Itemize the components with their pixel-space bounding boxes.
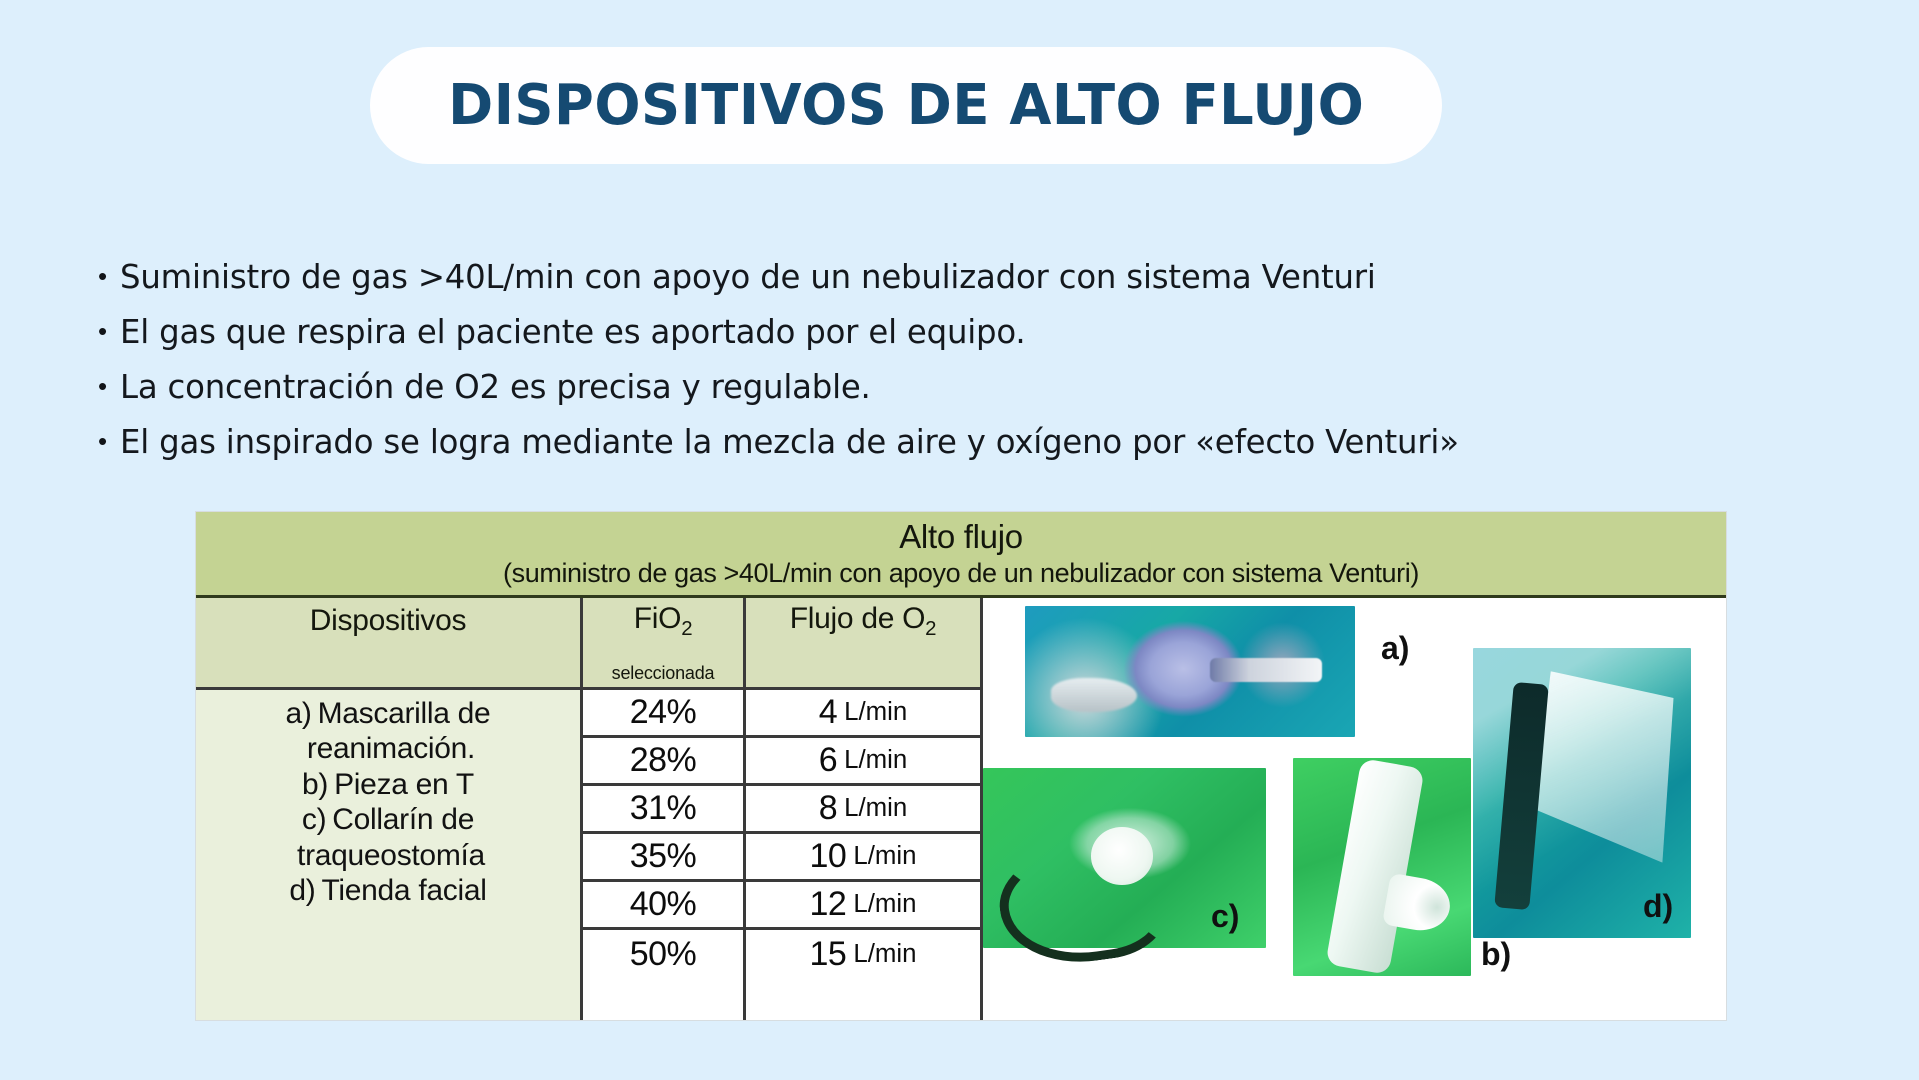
column-fio2: FiO2 seleccionada 24% 28% 31% 35% 40% 50… [583,598,746,1020]
column-header-fio2-sub: seleccionada [612,663,715,684]
flujo-unit: L/min [853,842,916,871]
photo-label-c: c) [1211,898,1239,935]
table-cell-fio2: 24% [583,690,743,738]
list-item: b)Pieza en T [196,767,580,802]
high-flow-devices-figure: Alto flujo (suministro de gas >40L/min c… [196,512,1726,1020]
device-marker: b) [302,768,328,801]
flujo-unit: L/min [853,890,916,919]
list-item: • Suministro de gas >40L/min con apoyo d… [98,258,1898,298]
table-cell-fio2: 50% [583,930,743,978]
list-item: • El gas inspirado se logra mediante la … [98,423,1898,463]
bag-valve-mask-photo [1025,606,1355,737]
device-marker: a) [286,697,312,730]
page-title: DISPOSITIVOS DE ALTO FLUJO [448,73,1364,138]
device-name: Mascarilla de [318,697,491,730]
column-dispositivos: Dispositivos a)Mascarilla de reanimación… [196,598,583,1020]
column-header-dispositivos: Dispositivos [196,598,580,690]
flujo-unit: L/min [844,698,907,727]
figure-header: Alto flujo (suministro de gas >40L/min c… [196,512,1726,598]
bullet-dot-icon: • [98,373,120,399]
column-flujo-de-o2: Flujo de O2 4L/min 6L/min 8L/min 10L/min… [746,598,980,1020]
photo-label-a: a) [1381,630,1409,667]
list-item: reanimación. [196,731,580,766]
flujo-value: 10 [810,837,847,876]
flujo-value: 15 [810,935,847,974]
bullet-text: El gas que respira el paciente es aporta… [120,313,1026,351]
list-item: • La concentración de O2 es precisa y re… [98,368,1898,408]
device-name: Collarín de [332,803,474,836]
flujo-unit: L/min [844,746,907,775]
figure-header-subtitle: (suministro de gas >40L/min con apoyo de… [196,558,1726,595]
table-cell-fio2: 40% [583,882,743,930]
table-cell-flujo: 6L/min [746,738,980,786]
photo-label-b: b) [1481,936,1511,973]
flujo-value: 4 [819,693,837,732]
figure-body: Dispositivos a)Mascarilla de reanimación… [196,598,1726,1020]
bullet-dot-icon: • [98,318,120,344]
flujo-unit: L/min [844,794,907,823]
table-cell-fio2: 31% [583,786,743,834]
list-item: • El gas que respira el paciente es apor… [98,313,1898,353]
device-name: Tienda facial [321,874,486,907]
table-cell-fio2: 28% [583,738,743,786]
bullet-text: La concentración de O2 es precisa y regu… [120,368,871,406]
device-name: Pieza en T [334,768,474,801]
bullet-dot-icon: • [98,428,120,454]
table-cell-flujo: 10L/min [746,834,980,882]
flujo-value: 12 [810,885,847,924]
device-name: traqueostomía [297,839,485,872]
bullet-text: El gas inspirado se logra mediante la me… [120,423,1459,461]
t-piece-photo [1293,758,1471,976]
devices-table: Dispositivos a)Mascarilla de reanimación… [196,598,983,1020]
flujo-unit: L/min [853,940,916,969]
list-item: c)Collarín de [196,802,580,837]
table-cell-flujo: 4L/min [746,690,980,738]
table-cell-flujo: 8L/min [746,786,980,834]
device-name-list: a)Mascarilla de reanimación. b)Pieza en … [196,690,580,908]
table-cell-flujo: 12L/min [746,882,980,930]
bullet-text: Suministro de gas >40L/min con apoyo de … [120,258,1376,296]
list-item: traqueostomía [196,838,580,873]
device-marker: d) [289,874,315,907]
table-cell-flujo: 15L/min [746,930,980,978]
bullet-list: • Suministro de gas >40L/min con apoyo d… [98,258,1898,478]
table-cell-fio2: 35% [583,834,743,882]
list-item: a)Mascarilla de [196,696,580,731]
figure-header-title: Alto flujo [196,512,1726,558]
list-item: d)Tienda facial [196,873,580,908]
column-header-fio2: FiO2 seleccionada [583,598,743,690]
title-pill: DISPOSITIVOS DE ALTO FLUJO [370,47,1442,164]
bullet-dot-icon: • [98,263,120,289]
photo-label-d: d) [1643,888,1673,925]
column-header-fio2-main: FiO2 [634,603,692,640]
device-photo-panel: a) c) b) d) [983,598,1726,1020]
device-name: reanimación. [307,732,475,765]
column-header-flujo: Flujo de O2 [746,598,980,690]
device-marker: c) [302,803,326,836]
flujo-value: 8 [819,789,837,828]
column-header-flujo-main: Flujo de O2 [790,603,936,640]
flujo-value: 6 [819,741,837,780]
